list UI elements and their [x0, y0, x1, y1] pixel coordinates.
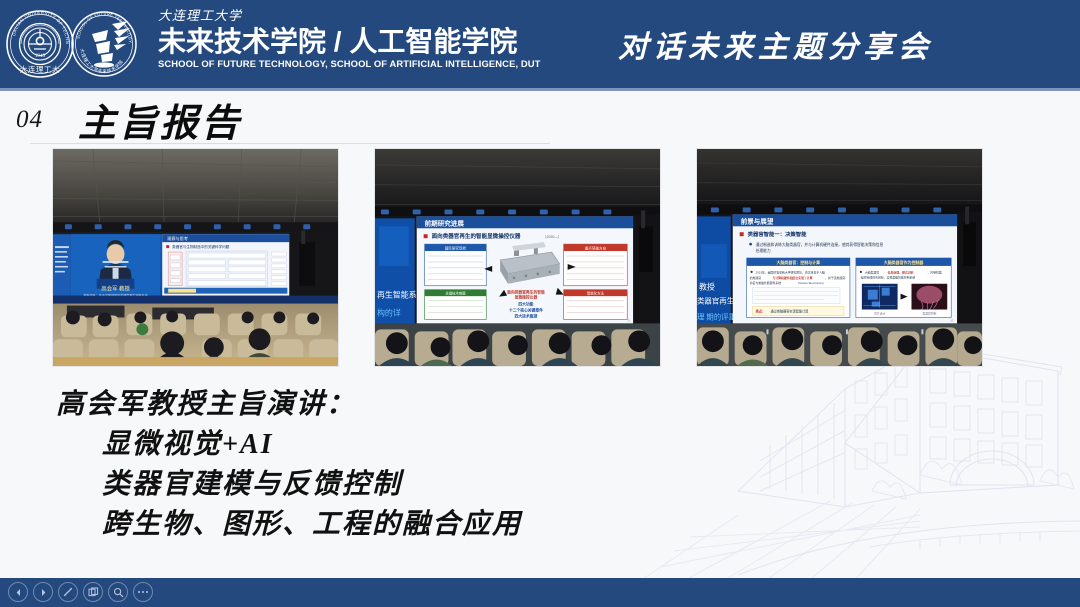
svg-text:教授: 教授: [699, 282, 715, 292]
school-of-future-technology-seal-icon: SCHOOL OF FUTURE TECHNOLOGY, DUT 大连理工大学未…: [68, 8, 140, 80]
section-header: 04 主旨报告: [0, 92, 1080, 144]
presenter-toolbar: [8, 582, 153, 602]
svg-text:32: 32: [950, 318, 954, 322]
svg-text:面向类器官再生的智能显微操控仪器: 面向类器官再生的智能显微操控仪器: [432, 232, 521, 240]
previous-slide-icon[interactable]: [8, 582, 28, 602]
svg-text:亮点：: 亮点：: [756, 308, 765, 313]
svg-text:1949: 1949: [35, 53, 46, 59]
svg-text:大脑类器官：控制与计算: 大脑类器官：控制与计算: [776, 260, 821, 265]
body-line: 类器官建模与反馈控制: [56, 465, 676, 505]
event-title: 对话未来主题分享会: [618, 22, 933, 66]
svg-text:芯片设计: 芯片设计: [874, 311, 885, 315]
pen-annotate-icon[interactable]: [58, 582, 78, 602]
svg-text:通过制造和训练大脑类器官，并与计算机硬件连接，使其获得智能决: 通过制造和训练大脑类器官，并与计算机硬件连接，使其获得智能决策和信息: [756, 242, 884, 247]
dut-university-seal-icon: 1949 DALIAN UNIVERSITY OF TECHNOLOGY 大连理…: [4, 8, 76, 80]
slide-overview-icon[interactable]: [83, 582, 103, 602]
svg-text:信息处理、模式识别: 信息处理、模式识别: [888, 269, 914, 274]
photo-slide-research-progress: 再生智能系统 构的详 前期研究进展 面向类器官再生的智能显微操控仪器 （2020…: [374, 148, 661, 367]
section-title: 主旨报告: [78, 92, 242, 147]
body-line: 跨生物、图形、工程的融合应用: [56, 505, 676, 545]
svg-text:，控制机器: ，控制机器: [927, 269, 941, 274]
svg-text:类器官控制: 类器官控制: [922, 311, 936, 315]
svg-text:面向类器官再生的智能: 面向类器官再生的智能: [507, 290, 545, 295]
svg-text:2023年，美国印第安纳大学研究团队，首次将基于人脑: 2023年，美国印第安纳大学研究团队，首次将基于人脑: [756, 269, 825, 274]
svg-text:显微操控仪器: 显微操控仪器: [515, 295, 538, 300]
header-underline: [0, 88, 1080, 91]
svg-text:21: 21: [627, 318, 631, 322]
svg-text:大脑类器官作为控制器: 大脑类器官作为控制器: [883, 260, 925, 265]
photo-keynote-speaker-hall: 高会军 教授 报告题目：基于显微视觉的类器官再生智能系统 观察与思考 类器官与生…: [52, 148, 339, 367]
svg-text:通过类脑器官实现智能计算: 通过类脑器官实现智能计算: [770, 308, 808, 313]
section-number: 04: [16, 106, 43, 134]
next-slide-icon[interactable]: [33, 582, 53, 602]
svg-text:观察与思考: 观察与思考: [167, 235, 188, 241]
body-line: 显微视觉+AI: [56, 425, 676, 465]
svg-text:构的详: 构的详: [377, 307, 401, 317]
svg-text:与计算机硬件相结合实现了计算: 与计算机硬件相结合实现了计算: [772, 275, 812, 280]
svg-text:大连理工大: 大连理工大: [20, 64, 61, 74]
slide-footer-bar: [0, 578, 1080, 607]
brand-lockup: 大连理工大学 未来技术学院 / 人工智能学院 SCHOOL OF FUTURE …: [158, 6, 518, 71]
svg-text:大脑类器官: 大脑类器官: [865, 269, 879, 274]
svg-text:高会军 教授: 高会军 教授: [101, 285, 130, 293]
svg-text:理 期的评重: 理 期的评重: [697, 311, 737, 321]
svg-text:重点突破方向: 重点突破方向: [585, 245, 607, 250]
slide-body-text: 高会军教授主旨演讲： 显微视觉+AI 类器官建模与反馈控制 跨生物、图形、工程的…: [56, 385, 676, 545]
more-options-icon[interactable]: [133, 582, 153, 602]
svg-text:（2020—）: （2020—）: [543, 234, 562, 239]
body-line: 高会军教授主旨演讲：: [56, 385, 676, 425]
svg-text:，并于该类器官: ，并于该类器官: [825, 275, 845, 280]
brand-school-name: 未来技术学院 / 人工智能学院: [158, 25, 518, 58]
svg-text:(Nature Electronics): (Nature Electronics): [798, 281, 823, 285]
svg-text:处理能力: 处理能力: [756, 248, 771, 253]
svg-text:四大技术瓶颈: 四大技术瓶颈: [515, 313, 538, 318]
brand-school-name-english: SCHOOL OF FUTURE TECHNOLOGY, SCHOOL OF A…: [158, 58, 514, 71]
svg-text:类器官与生物制造中的关键科学问题: 类器官与生物制造中的关键科学问题: [172, 244, 229, 249]
brand-university-name: 大连理工大学: [158, 8, 518, 24]
svg-text:智能化方法: 智能化方法: [587, 291, 604, 296]
slide-header: 1949 DALIAN UNIVERSITY OF TECHNOLOGY 大连理…: [0, 0, 1080, 88]
svg-text:四大功能: 四大功能: [518, 302, 533, 307]
svg-text:关键技术难题: 关键技术难题: [445, 291, 466, 296]
svg-text:十二个核心关键部件: 十二个核心关键部件: [509, 308, 543, 313]
svg-text:命名为类脑智能硬件系统: 命名为类脑智能硬件系统: [750, 280, 782, 285]
svg-text:的类器官: 的类器官: [750, 275, 762, 280]
section-divider: [30, 143, 550, 144]
svg-text:前期研究进展: 前期研究进展: [425, 218, 465, 227]
zoom-magnify-icon[interactable]: [108, 582, 128, 602]
svg-text:操作完成任务目标，实现类脑智能控制系统: 操作完成任务目标，实现类脑智能控制系统: [861, 274, 916, 279]
svg-text:前景与展望: 前景与展望: [741, 216, 774, 225]
svg-text:国际研究现状: 国际研究现状: [445, 245, 467, 250]
photo-slide-outlook: 教授 类器官再生智能系统 理 期的评重 前景与展望 类器官智能一：决策智能 通过…: [696, 148, 983, 367]
presentation-slide: 1949 DALIAN UNIVERSITY OF TECHNOLOGY 大连理…: [0, 0, 1080, 607]
svg-text:类器官智能一：决策智能: 类器官智能一：决策智能: [748, 230, 808, 238]
